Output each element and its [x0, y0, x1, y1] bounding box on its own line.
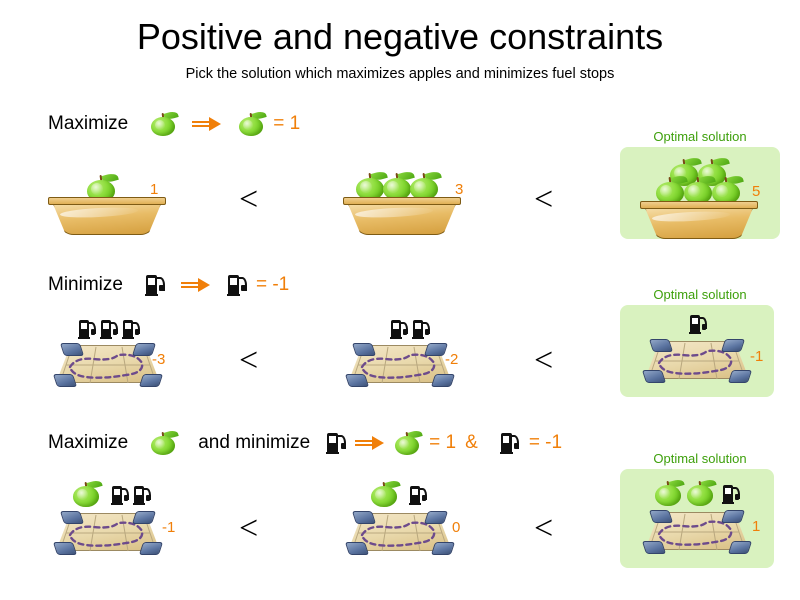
less-than-icon: <	[239, 510, 258, 548]
implies-arrow-icon	[355, 434, 385, 452]
optimal-solution-label: Optimal solution	[620, 287, 780, 302]
fruit-bowl-icon	[343, 197, 461, 237]
less-than-icon: <	[534, 181, 553, 219]
route-map-icon	[56, 511, 160, 557]
apple-icon	[150, 111, 176, 137]
row-header: Maximize = 1	[48, 105, 300, 143]
route-map-icon	[348, 511, 452, 557]
fuel-pump-icon	[111, 485, 129, 505]
fuel-pump-icon	[326, 432, 346, 454]
row-header-lead: Minimize	[48, 274, 123, 296]
fruit-bowl-icon	[640, 201, 758, 241]
fuel-pump-icon	[122, 319, 140, 339]
route-map-icon	[348, 343, 452, 389]
fuel-pump-icon	[722, 484, 740, 504]
fuel-pump-icon	[689, 314, 707, 334]
solution-value: 5	[752, 183, 760, 200]
implies-arrow-icon	[192, 115, 222, 133]
fuel-pump-icon	[78, 319, 96, 339]
row-header: Maximize and minimize = 1 & = -1	[48, 424, 562, 462]
row-header-mid: and minimize	[198, 432, 310, 454]
apple-icon	[370, 480, 398, 508]
page-title: Positive and negative constraints	[0, 16, 800, 58]
solution-value: 1	[752, 518, 760, 535]
solution-value: -2	[445, 351, 458, 368]
apple-icon	[394, 430, 420, 456]
route-map-icon	[56, 343, 160, 389]
row-header-lead: Maximize	[48, 113, 128, 135]
row-header-ampersand: &	[465, 432, 478, 454]
row-header-equals: = 1	[429, 432, 456, 454]
apple-icon	[654, 479, 682, 507]
apple-icon	[238, 111, 264, 137]
page-subtitle: Pick the solution which maximizes apples…	[0, 66, 800, 82]
fruit-bowl-icon	[48, 197, 166, 237]
solution-value: 3	[455, 181, 463, 198]
apple-icon	[686, 479, 714, 507]
row-header-lead: Maximize	[48, 432, 128, 454]
solution-value: 1	[150, 181, 158, 198]
implies-arrow-icon	[181, 276, 211, 294]
solution-value: 0	[452, 519, 460, 536]
fuel-pump-icon	[412, 319, 430, 339]
fuel-pump-icon	[133, 485, 151, 505]
solution-value: -3	[152, 351, 165, 368]
less-than-icon: <	[534, 510, 553, 548]
optimal-solution-label: Optimal solution	[620, 129, 780, 144]
fuel-pump-icon	[500, 432, 520, 454]
less-than-icon: <	[239, 342, 258, 380]
route-map-icon	[645, 510, 749, 556]
fuel-pump-icon	[409, 485, 427, 505]
row-header-equals-2: = -1	[529, 432, 562, 454]
solution-value: -1	[750, 348, 763, 365]
less-than-icon: <	[239, 181, 258, 219]
fuel-pump-icon	[145, 274, 165, 296]
fuel-pump-icon	[227, 274, 247, 296]
solution-value: -1	[162, 519, 175, 536]
route-map-icon	[645, 339, 749, 385]
fuel-pump-icon	[390, 319, 408, 339]
less-than-icon: <	[534, 342, 553, 380]
apple-icon	[150, 430, 176, 456]
row-header-equals: = -1	[256, 274, 289, 296]
row-header-equals: = 1	[273, 113, 300, 135]
row-header: Minimize = -1	[48, 266, 289, 304]
optimal-solution-label: Optimal solution	[620, 451, 780, 466]
fuel-pump-icon	[100, 319, 118, 339]
apple-icon	[72, 480, 100, 508]
